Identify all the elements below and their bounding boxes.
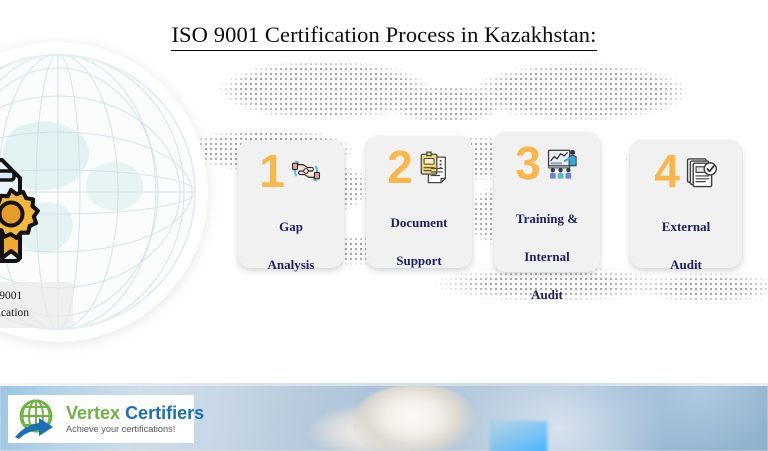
brand-text: Vertex Certifiers Achieve your certifica… — [63, 403, 204, 435]
brand-tagline: Achieve your certifications! — [66, 423, 204, 435]
process-steps: 1 Gap Analysis — [238, 132, 754, 272]
step-3-label-line1: Training & — [498, 209, 596, 228]
touchscreen-glow — [490, 421, 548, 451]
step-4-label-line1: External — [634, 217, 738, 236]
step-4-label-line2: Audit — [634, 255, 738, 274]
globe-arrow-logo-icon — [13, 397, 63, 441]
certificate-label: ISO 9001 Certification — [0, 282, 73, 328]
handshake-icon — [289, 154, 323, 188]
glove-hand-shape — [352, 385, 478, 451]
brand-name-first: Vertex — [66, 403, 120, 423]
training-presentation-icon — [545, 146, 579, 180]
step-card-2[interactable]: 2 — [366, 136, 472, 268]
step-card-1[interactable]: 1 Gap Analysis — [238, 140, 344, 268]
footer-top-divider — [0, 383, 768, 386]
step-2-number: 2 — [387, 144, 413, 190]
clipboard-document-icon — [417, 150, 451, 184]
step-3-label-line3: Audit — [498, 285, 596, 304]
document-stack-check-icon — [684, 154, 718, 188]
brand-name: Vertex Certifiers — [66, 403, 204, 423]
step-card-4[interactable]: 4 External Audit — [630, 140, 742, 268]
step-2-label-line2: Support — [370, 251, 468, 270]
step-card-3[interactable]: 3 — [494, 132, 600, 272]
step-1-label: Gap Analysis — [238, 196, 344, 304]
brand-logo[interactable]: Vertex Certifiers Achieve your certifica… — [8, 395, 194, 443]
step-1-label-line1: Gap — [242, 217, 340, 236]
globe-panel: ISO 9001 Certification — [0, 42, 208, 342]
step-1-number: 1 — [259, 148, 285, 194]
certificate-award-icon — [0, 152, 44, 267]
step-2-header: 2 — [366, 136, 472, 192]
brand-name-second: Certifiers — [125, 403, 204, 423]
step-3-label: Training & Internal Audit — [494, 188, 600, 334]
footer-banner: Vertex Certifiers Achieve your certifica… — [0, 383, 768, 451]
step-2-label-line1: Document — [370, 213, 468, 232]
certificate-label-line2: Certification — [0, 305, 69, 322]
slide-canvas: ISO 9001 Certification ISO 9001 Certific… — [0, 0, 768, 451]
step-1-label-line2: Analysis — [242, 255, 340, 274]
certificate-label-line1: ISO 9001 — [0, 288, 69, 305]
step-3-label-line2: Internal — [498, 247, 596, 266]
page-title-text: ISO 9001 Certification Process in Kazakh… — [171, 22, 596, 51]
step-3-number: 3 — [515, 140, 541, 186]
page-title: ISO 9001 Certification Process in Kazakh… — [0, 22, 768, 48]
step-4-label: External Audit — [630, 196, 742, 304]
step-1-header: 1 — [238, 140, 344, 196]
step-4-header: 4 — [630, 140, 742, 196]
step-4-number: 4 — [654, 148, 680, 194]
step-3-header: 3 — [494, 132, 600, 188]
step-2-label: Document Support — [366, 192, 472, 300]
